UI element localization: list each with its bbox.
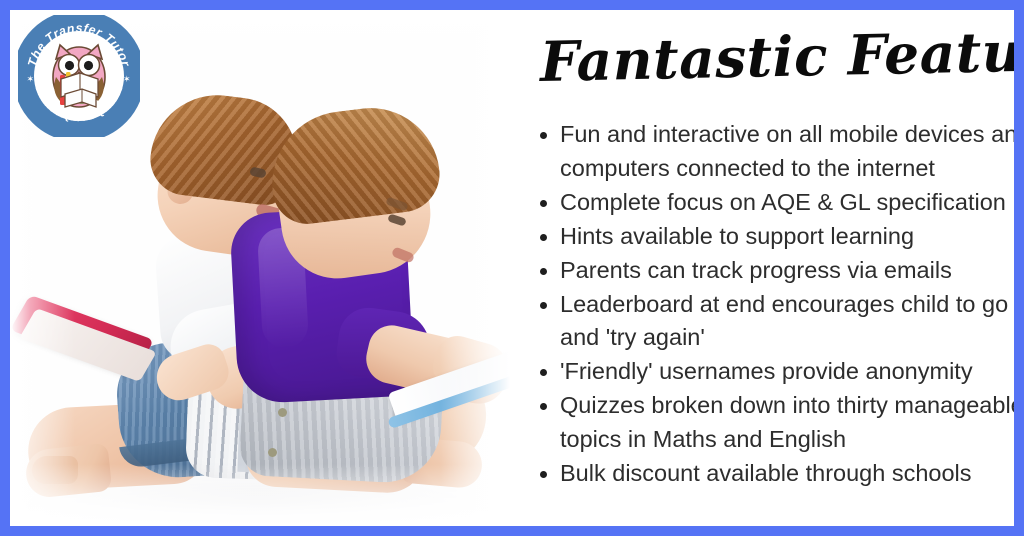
logo-star-right: ✶ (123, 74, 131, 84)
features-panel: Fantastic Features: Fun and interactive … (510, 10, 1014, 526)
page-title: Fantastic Features: (539, 10, 1011, 104)
list-item: Complete focus on AQE & GL specification (539, 186, 1014, 220)
owl-icon (53, 45, 105, 107)
logo-star-left: ✶ (27, 74, 35, 84)
list-item: 'Friendly' usernames provide anonymity (539, 355, 1014, 389)
boy-right-hair (264, 100, 444, 228)
boy-right-shorts-button-bottom (268, 448, 277, 457)
border-top (0, 0, 1024, 10)
the-transfer-tutor-logo: The Transfer Tutor Online AQE/GL Quizzes… (18, 15, 140, 137)
boy-left-toes (32, 456, 78, 484)
list-item: Quizzes broken down into thirty manageab… (539, 389, 1014, 456)
border-right (1014, 0, 1024, 536)
border-left (0, 0, 10, 536)
banner-inner: The Transfer Tutor Online AQE/GL Quizzes… (10, 10, 1014, 526)
list-item: Parents can track progress via emails (539, 254, 1014, 288)
list-item: Bulk discount available through schools (539, 457, 1014, 491)
list-item: Hints available to support learning (539, 220, 1014, 254)
border-bottom (0, 526, 1024, 536)
list-item: Fun and interactive on all mobile device… (539, 118, 1014, 185)
features-list: Fun and interactive on all mobile device… (513, 118, 1014, 491)
boy-right-shorts-button-top (278, 408, 287, 417)
fantastic-features-banner: The Transfer Tutor Online AQE/GL Quizzes… (0, 0, 1024, 536)
list-item: Leaderboard at end encourages child to g… (539, 288, 1014, 355)
